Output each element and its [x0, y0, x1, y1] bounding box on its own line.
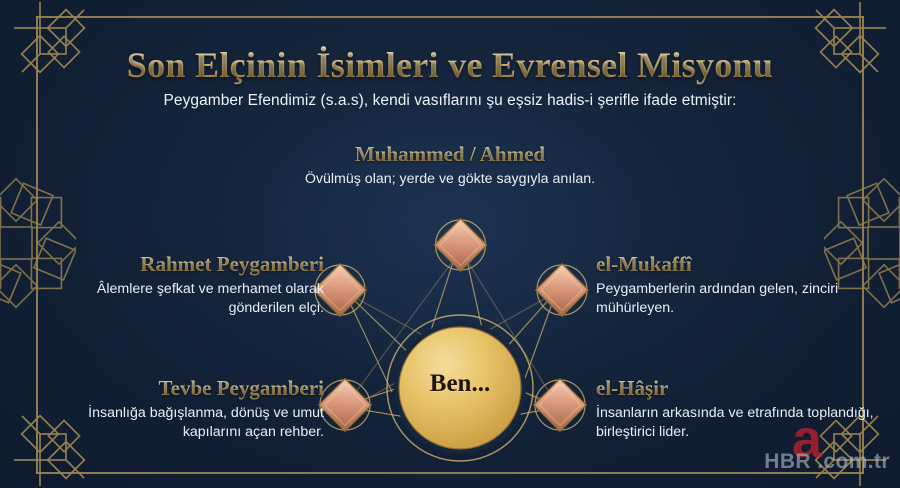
node-diamond-upper-right: [536, 264, 588, 316]
infographic-canvas: Son Elçinin İsimleri ve Evrensel Misyonu…: [0, 0, 900, 488]
node-description: İnsanlığa bağışlanma, dönüş ve umut kapı…: [46, 404, 324, 441]
node-title: Rahmet Peygamberi: [46, 252, 324, 277]
node-title: Tevbe Peygamberi: [46, 376, 324, 401]
node-title: Muhammed / Ahmed: [300, 142, 600, 167]
node-diamond-lower-right: [534, 379, 586, 431]
node-description: Peygamberlerin ardından gelen, zinciri m…: [596, 280, 886, 317]
node-label-el-mukaffi: el-Mukaffî Peygamberlerin ardından gelen…: [596, 252, 886, 317]
node-diamond-top: [434, 219, 486, 271]
watermark-text: HBR .com.tr: [764, 450, 890, 474]
node-description: İnsanların arkasında ve etrafında toplan…: [596, 404, 886, 441]
node-description: Âlemlere şefkat ve merhamet olarak gönde…: [46, 280, 324, 317]
node-label-tevbe-peygamberi: Tevbe Peygamberi İnsanlığa bağışlanma, d…: [46, 376, 324, 441]
node-diamond-lower-left: [319, 379, 371, 431]
center-medallion: [387, 315, 533, 461]
node-label-rahmet-peygamberi: Rahmet Peygamberi Âlemlere şefkat ve mer…: [46, 252, 324, 317]
node-title: el-Mukaffî: [596, 252, 886, 277]
node-label-el-hasir: el-Hâşir İnsanların arkasında ve etrafın…: [596, 376, 886, 441]
node-label-muhammed-ahmed: Muhammed / Ahmed Övülmüş olan; yerde ve …: [300, 142, 600, 189]
node-description: Övülmüş olan; yerde ve gökte saygıyla an…: [300, 170, 600, 189]
node-title: el-Hâşir: [596, 376, 886, 401]
